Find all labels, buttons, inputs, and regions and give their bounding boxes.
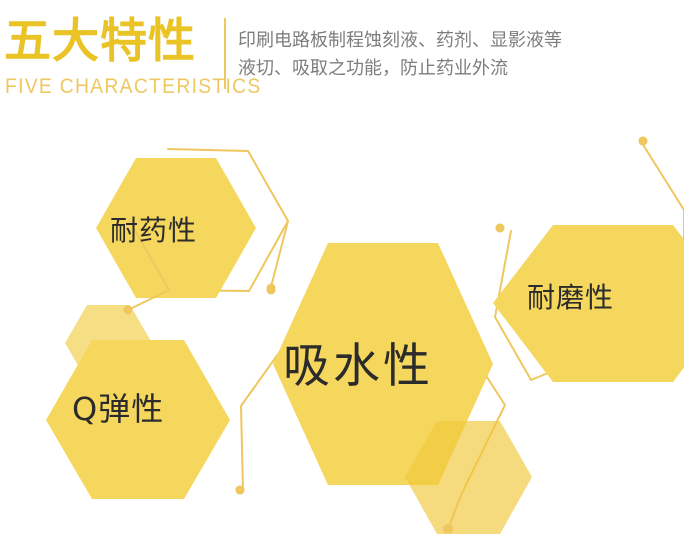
outline-dot-qtan-top-overlay bbox=[124, 306, 133, 315]
header-description: 印刷电路板制程蚀刻液、药剂、显影液等 液切、吸取之功能，防止药业外流 bbox=[238, 27, 668, 83]
page-header: 五大特性 FIVE CHARACTERISTICS 印刷电路板制程蚀刻液、药剂、… bbox=[0, 0, 684, 125]
outline-dot-naimo-left-overlay bbox=[496, 224, 505, 233]
hexagon-diagram: 耐药性 Q弹性 吸水性 耐磨性 bbox=[0, 125, 684, 552]
page-title: 五大特性 bbox=[4, 14, 196, 70]
outline-dot-naimo-top-overlay bbox=[639, 137, 648, 146]
header-divider bbox=[224, 18, 226, 89]
hexagon-qtan[interactable] bbox=[46, 340, 230, 499]
hexagon-graphics bbox=[0, 125, 684, 552]
hexagon-naimo[interactable] bbox=[493, 225, 684, 382]
hexagon-naiyao[interactable] bbox=[96, 158, 256, 298]
outline-dot-xishui-left-overlay bbox=[236, 486, 245, 495]
outline-leg-naiyao-overlay bbox=[271, 221, 288, 287]
header-description-line-1: 印刷电路板制程蚀刻液、药剂、显影液等 bbox=[238, 27, 668, 55]
outline-dot-naiyao-right-overlay bbox=[267, 284, 276, 293]
header-description-line-2: 液切、吸取之功能，防止药业外流 bbox=[238, 55, 668, 83]
feature-infographic-page: 五大特性 FIVE CHARACTERISTICS 印刷电路板制程蚀刻液、药剂、… bbox=[0, 0, 684, 552]
outline-dot-xishui-bottom-overlay bbox=[443, 524, 453, 534]
title-block: 五大特性 FIVE CHARACTERISTICS bbox=[4, 14, 220, 114]
